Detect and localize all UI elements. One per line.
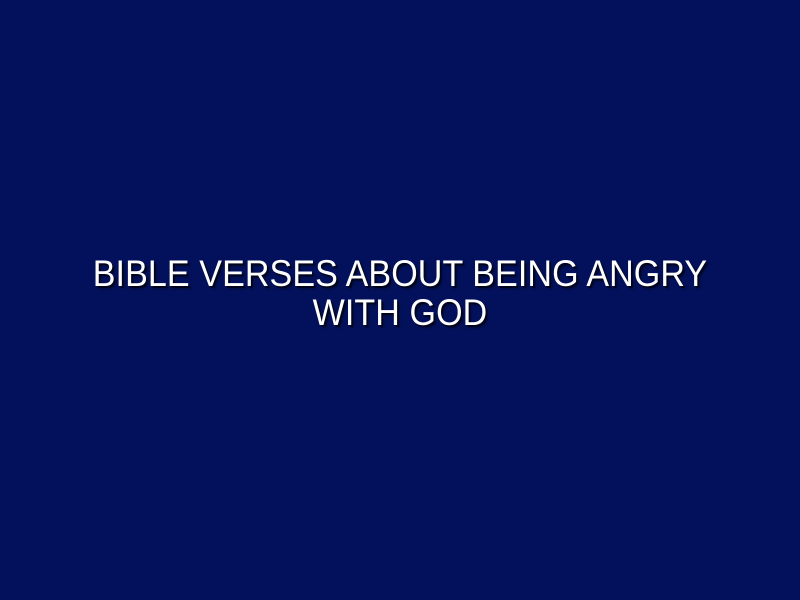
title-card: BIBLE VERSES ABOUT BEING ANGRY WITH GOD (0, 0, 800, 600)
title-block: BIBLE VERSES ABOUT BEING ANGRY WITH GOD (30, 254, 770, 332)
page-title: BIBLE VERSES ABOUT BEING ANGRY WITH GOD (60, 254, 741, 332)
